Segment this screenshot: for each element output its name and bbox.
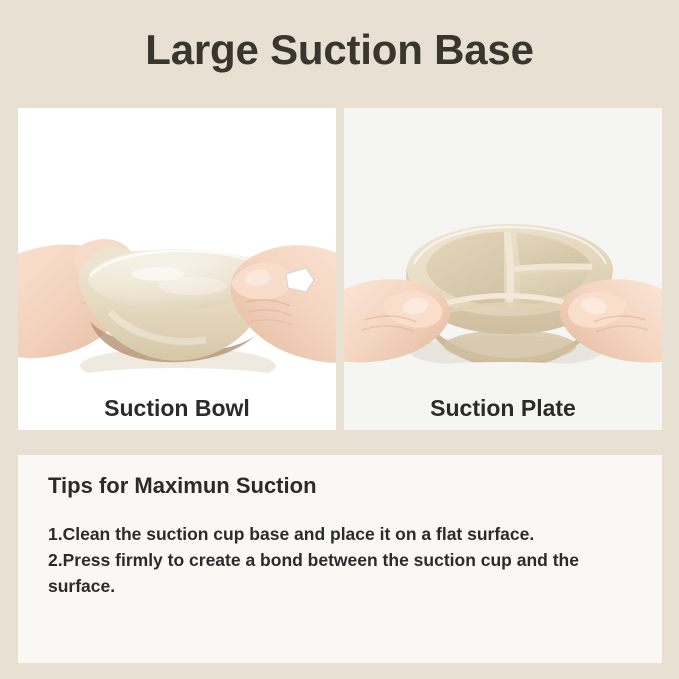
- product-card-suction-plate: Suction Plate: [344, 108, 662, 430]
- product-panels: Suction Bowl: [18, 108, 662, 430]
- suction-plate-photo: [344, 108, 662, 430]
- plate-divider-horizontal: [514, 266, 592, 269]
- page-title-bar: Large Suction Base: [0, 0, 679, 100]
- caption-suction-plate: Suction Plate: [344, 397, 662, 420]
- tips-panel: Tips for Maximun Suction 1.Clean the suc…: [18, 455, 662, 663]
- suction-bowl-illustration: [18, 108, 336, 430]
- tip-item-1: 1.Clean the suction cup base and place i…: [48, 522, 643, 548]
- tips-body: 1.Clean the suction cup base and place i…: [48, 522, 643, 600]
- infographic-root: Large Suction Base: [0, 0, 679, 679]
- caption-suction-bowl: Suction Bowl: [18, 397, 336, 420]
- page-title: Large Suction Base: [145, 29, 534, 71]
- suction-bowl-photo: [18, 108, 336, 430]
- tip-item-2: 2.Press firmly to create a bond between …: [48, 548, 643, 600]
- product-card-suction-bowl: Suction Bowl: [18, 108, 336, 430]
- suction-plate-illustration: [344, 108, 662, 430]
- tips-heading: Tips for Maximun Suction: [48, 475, 317, 497]
